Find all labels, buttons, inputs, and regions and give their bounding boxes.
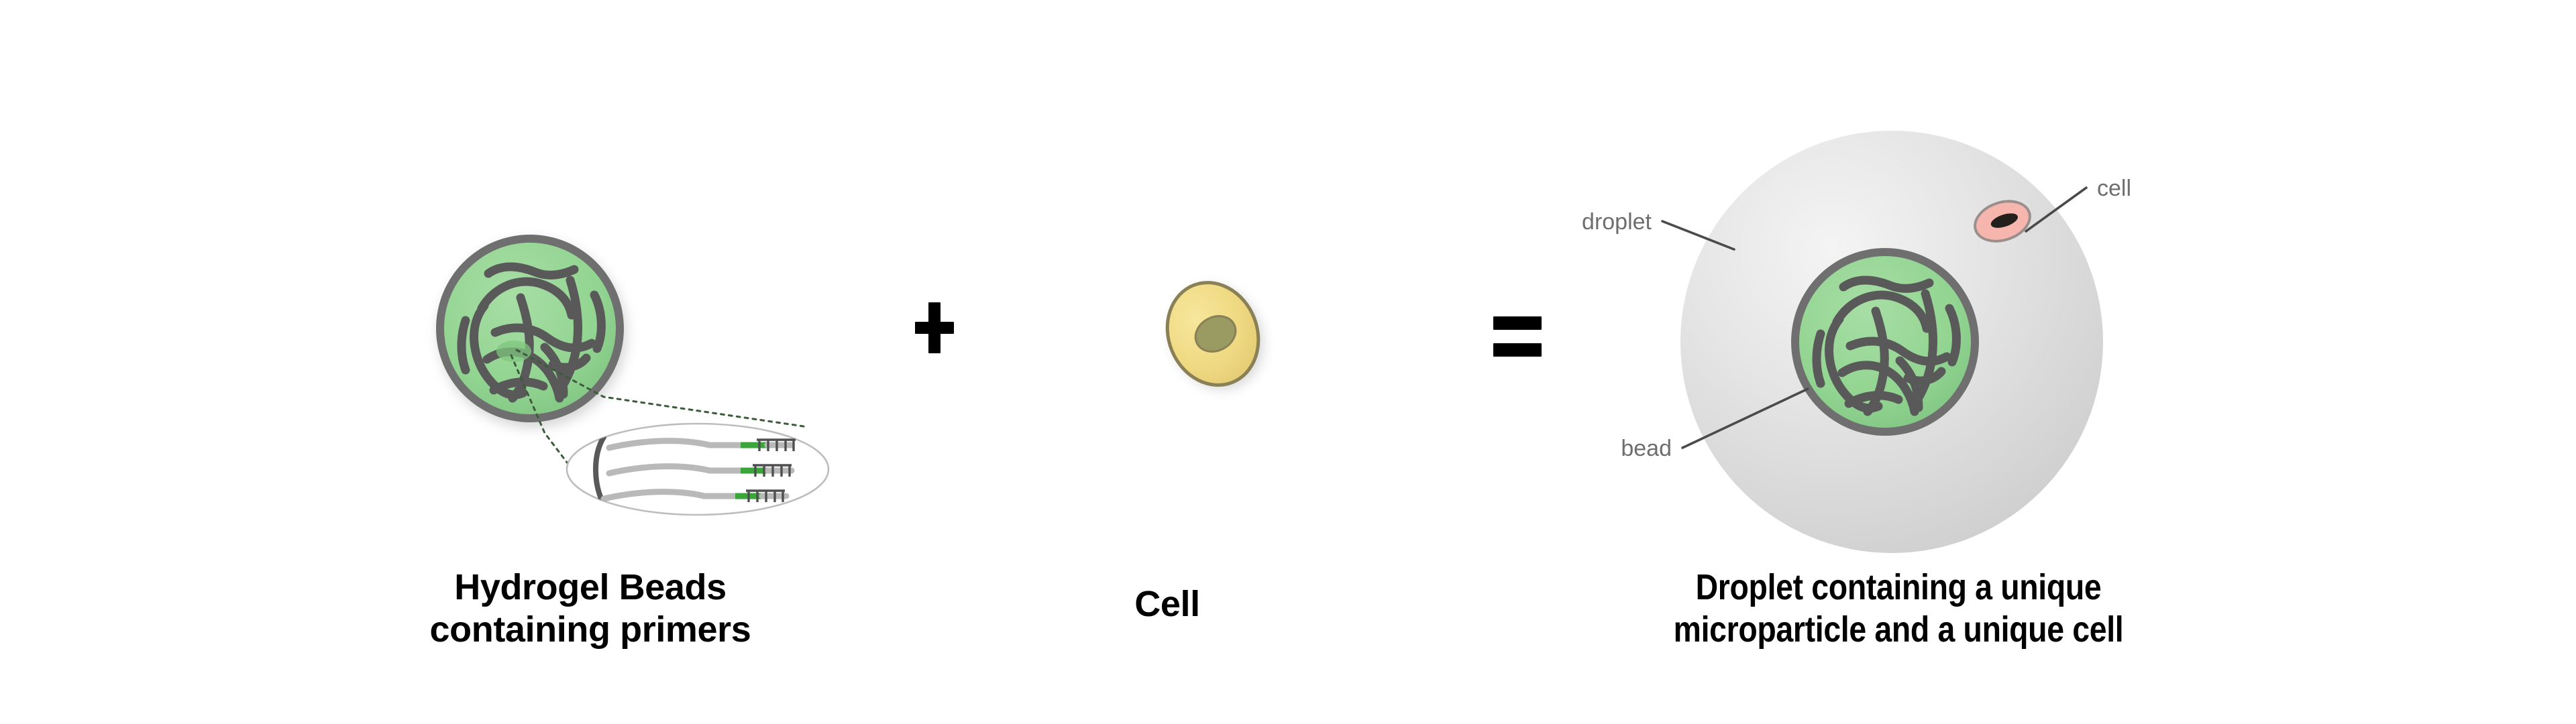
caption-cell: Cell: [926, 583, 1409, 625]
droplet-illustration: [1680, 131, 2103, 553]
droplet-label: droplet: [1582, 209, 1652, 235]
diagram-canvas: droplet cell bead Hydrogel Beads contain…: [0, 0, 2576, 724]
free-cell-illustration: [1152, 269, 1274, 399]
cell-label: cell: [2097, 176, 2131, 201]
primer-magnifier-lens: [567, 424, 828, 515]
callout-origin-spot: [496, 341, 531, 362]
bead-label: bead: [1621, 436, 1672, 461]
equals-operator: [1493, 316, 1542, 357]
hydrogel-bead-illustration: [436, 235, 624, 422]
caption-droplet: Droplet containing a unique microparticl…: [1593, 566, 2204, 650]
caption-hydrogel-beads: Hydrogel Beads containing primers: [282, 566, 899, 650]
plus-operator: [915, 302, 954, 353]
